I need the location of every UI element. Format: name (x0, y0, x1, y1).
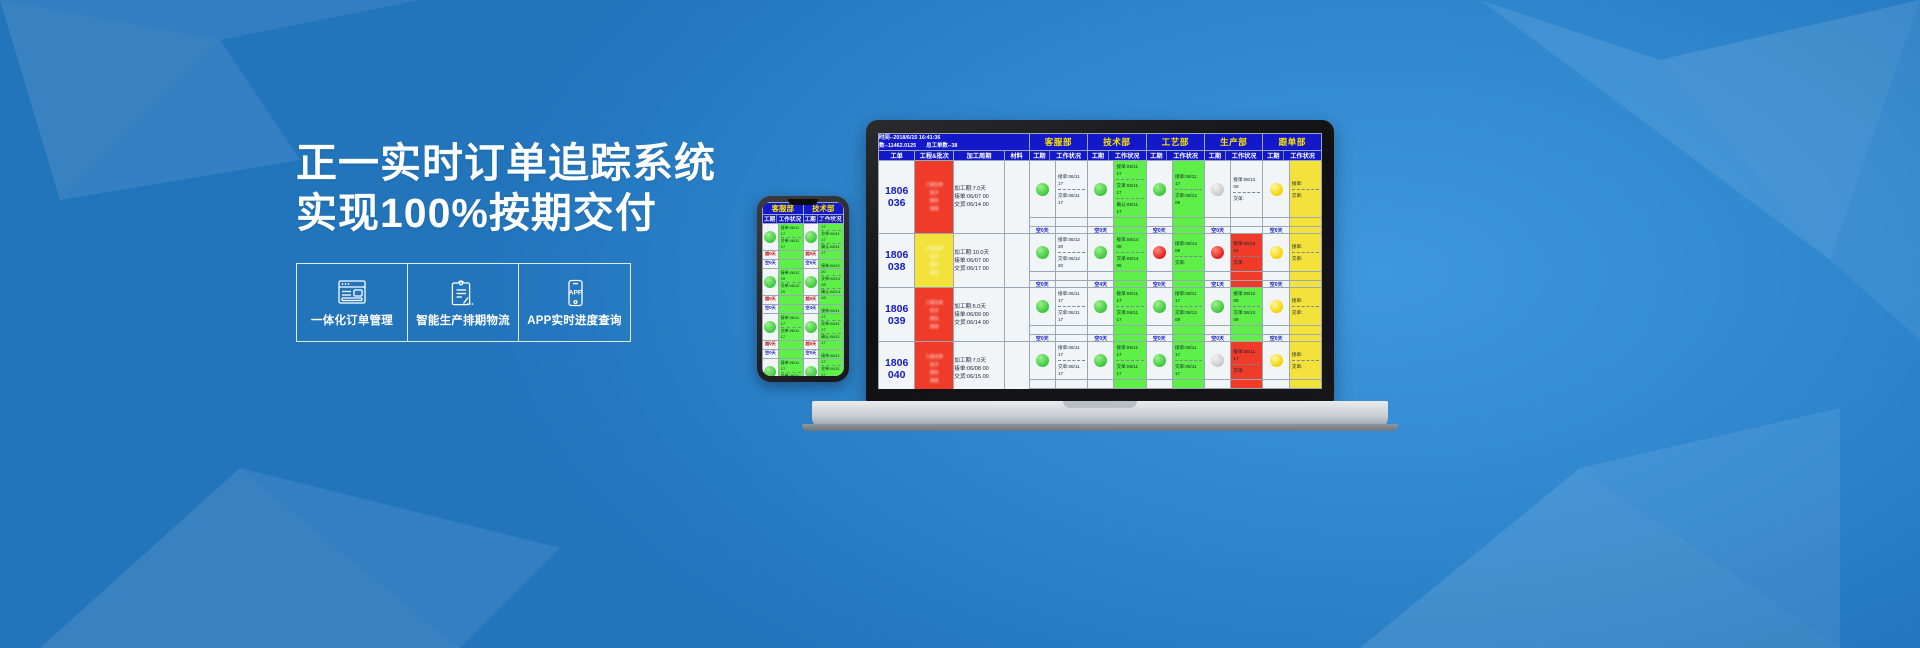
work-status-dates: 接单:06/11 17交单: (1231, 342, 1262, 379)
feature-list: 一体化订单管理 智能生产排期物流 (296, 263, 631, 342)
process-line: 接单:06/08 00 (954, 365, 1004, 373)
phone-status-dot-green (764, 366, 776, 376)
status-dot-green (1094, 300, 1107, 313)
phone-table-row[interactable]: 接单:06/11 17交单:06/11 17超0天空0天接单:06/11 17交… (763, 314, 844, 359)
date-line: 接单:06/11 17 (1116, 344, 1143, 358)
table-row[interactable]: 1806038工程名称批次颜色规格加工期:10.0天接单:06/07 00交货:… (879, 234, 1322, 272)
phone-date-line: 接单:06/11 17 (821, 353, 841, 365)
cell-dept-metrics: 超0天空0天 (1204, 326, 1262, 342)
cell-dept-status[interactable]: 接单:06/11 17交单:06/12 09 (1146, 161, 1204, 218)
phone-metric-overdue: 超0天 (763, 341, 779, 349)
phone-metric-idle: 空0天 (763, 350, 779, 358)
duration-indicator (1205, 288, 1231, 325)
column-header-status: 工作状况 (1050, 151, 1087, 160)
cell-dept-metrics: 超3.7天空0天 (1263, 218, 1322, 234)
cell-project-batch[interactable]: 工程名称批次颜色规格 (915, 234, 954, 288)
column-header-status: 工作状况 (1167, 151, 1204, 160)
cell-dept-status[interactable]: 接单:交单: (1263, 288, 1322, 326)
metric-overdue: 超0天 (1030, 380, 1056, 388)
cell-dept-status[interactable]: 接单:06/15 16交单: (1204, 234, 1262, 272)
cell-dept-metrics: 超0天空4天 (1088, 272, 1146, 288)
duration-indicator (1030, 234, 1056, 271)
cell-dept-metrics: 超0天空0天 (1146, 218, 1204, 234)
status-dot-grey (1211, 354, 1224, 367)
phone-metric-idle: 空0天 (763, 305, 779, 313)
cell-dept-status[interactable]: 接单:交单: (1263, 234, 1322, 272)
cell-dept-status[interactable]: 接单:06/11 17交单:06/11 17 (1088, 288, 1146, 326)
phone-metric-overdue: 超0天 (804, 296, 820, 304)
metric-idle-slot2 (1173, 335, 1204, 342)
work-status-dates: 接单:06/11 17交单:06/11 17 (1114, 288, 1145, 325)
metric-idle: 空0天 (1263, 281, 1289, 288)
laptop-mockup: 时间--2018/6/15 16:41:36数--11462.0125总工单数-… (866, 120, 1334, 426)
process-line: 接单:06/07 00 (954, 257, 1004, 265)
feature-label: APP实时进度查询 (527, 312, 621, 328)
table-header-row-columns: 工单工程&批次加工周期材料工期工作状况工期工作状况工期工作状况工期工作状况工期工… (879, 151, 1322, 161)
duration-indicator (1263, 234, 1289, 271)
phone-cell-dept-status[interactable]: 接单:06/11 17交单:06/11 17确认:06/11 17超0天空0天 (803, 314, 844, 359)
table-row[interactable]: 1806036工程名称批次颜色规格加工期:7.0天接单:06/07 00交货:0… (879, 161, 1322, 218)
column-header-group[interactable]: 工期工作状况 (1263, 151, 1322, 161)
cell-processing-period: 加工期:10.0天接单:06/07 00交货:06/17 00 (954, 234, 1005, 288)
phone-work-status-dates: 接单:06/11 17交单:06/11 17确认:06/11 17 (819, 314, 843, 340)
phone-metric-slot (819, 341, 843, 349)
phone-work-status-dates: 接单:06/11 17交单:06/11 17 (779, 224, 803, 250)
date-line: 交单:06/12 09 (1175, 309, 1202, 323)
phone-work-status-dates: 接单:06/11 17交单:06/11 17确认:06/11 17 (819, 359, 843, 376)
date-line: 接单:06/11 17 (1058, 344, 1085, 358)
phone-date-line: 接单:06/11 17 (821, 218, 841, 230)
metric-overdue: 超0天 (1263, 272, 1289, 280)
cell-dept-status[interactable]: 接单:06/11 17交单:06/11 17确认:06/11 17 (1088, 161, 1146, 218)
duration-indicator (1147, 288, 1173, 325)
phone-cell-dept-status[interactable]: 接单:06/11 17交单:06/11 17确认:06/11 17超0天空0天 (803, 224, 844, 269)
metric-idle: 空4天 (1088, 281, 1114, 288)
status-dot-grey (1211, 183, 1224, 196)
cell-dept-metrics: 超0天空0天 (1088, 326, 1146, 342)
clipboard-checklist-icon (447, 278, 479, 308)
phone-date-line: 交单:06/11 17 (781, 238, 801, 250)
phone-date-line: 交单:06/11 17 (781, 328, 801, 340)
work-status-dates: 接单:06/12 09交单:06/12 09 (1231, 288, 1262, 325)
phone-cell-dept-status[interactable]: 接单:06/12 20交单:06/14 08确认:06/14 08超0天空4天 (803, 269, 844, 314)
status-dot-green (1094, 183, 1107, 196)
cell-project-batch[interactable]: 工程名称批次颜色规格 (915, 161, 954, 234)
work-status-dates: 接单:06/11 17交单:06/11 17 (1056, 342, 1087, 379)
metric-idle-slot (1173, 272, 1204, 280)
headline-block: 正一实时订单追踪系统 实现100%按期交付 (296, 138, 716, 238)
headline-line-1: 正一实时订单追踪系统 (296, 138, 716, 188)
work-status-dates: 接单:06/11 17交单:06/11 17 (1114, 342, 1145, 379)
order-tracking-table: 时间--2018/6/15 16:41:36数--11462.0125总工单数-… (878, 133, 1322, 389)
phone-date-line: 交单:06/11 17 (821, 231, 841, 243)
work-status-dates: 接单:06/11 17交单:06/11 17 (1056, 288, 1087, 325)
column-header-group[interactable]: 工期工作状况 (1088, 151, 1146, 161)
metric-idle-slot (1290, 380, 1321, 388)
metric-idle-slot (1231, 218, 1262, 226)
date-line: 接单:06/11 17 (1116, 163, 1143, 177)
metric-idle-slot2 (1173, 281, 1204, 288)
process-line: 加工期:10.0天 (954, 249, 1004, 257)
phone-duration-indicator (763, 224, 779, 250)
date-line: 接单: (1292, 243, 1319, 250)
cell-dept-status[interactable]: 接单:06/12 09交单: (1204, 161, 1262, 218)
phone-duration-indicator (804, 224, 820, 250)
date-line: 交单:06/12 09 (1233, 309, 1260, 323)
cell-dept-metrics: 超0天空0天 (1088, 218, 1146, 234)
duration-indicator (1205, 161, 1231, 217)
work-status-dates: 接单:交单: (1290, 161, 1321, 217)
date-line: 交单: (1292, 255, 1319, 262)
date-line: 交单:06/11 17 (1058, 363, 1085, 377)
phone-column-header-status: 工作状况 (777, 215, 802, 223)
status-dot-yellow (1270, 183, 1283, 196)
department-header: 客服部 (1029, 134, 1087, 151)
status-dot-green (1211, 300, 1224, 313)
date-line: 接单: (1292, 351, 1319, 358)
date-line: 交单: (1233, 195, 1260, 202)
duration-indicator (1088, 234, 1114, 271)
phone-date-line: 交单:06/14 08 (821, 276, 841, 288)
process-line: 交货:06/17 00 (954, 265, 1004, 273)
phone-date-line: 接单:06/12 20 (781, 270, 801, 282)
metric-idle: 空3天 (1147, 389, 1173, 390)
date-line: 交单: (1233, 367, 1260, 374)
metric-idle-slot (1114, 218, 1145, 226)
date-line: 交单: (1292, 309, 1319, 316)
cell-dept-status[interactable]: 接单:06/14 08交单:06/14 08 (1088, 234, 1146, 272)
polygon-decor-bottom-right (1240, 408, 1840, 648)
duration-indicator (1030, 342, 1056, 379)
metric-overdue: 超0天 (1030, 218, 1056, 226)
date-line: 交单:06/12 20 (1058, 255, 1085, 269)
process-line: 加工期:7.0天 (954, 185, 1004, 193)
work-status-dates: 接单:交单: (1290, 342, 1321, 379)
work-status-dates: 接单:06/11 17交单:06/11 17 (1173, 342, 1204, 379)
metric-overdue: 超0天 (1147, 218, 1173, 226)
cell-dept-metrics: 超0天空0天 (1029, 326, 1087, 342)
cell-dept-metrics: 超0天空4天 (1088, 380, 1146, 390)
status-dot-green (1036, 246, 1049, 259)
status-dot-green (1094, 354, 1107, 367)
phone-status-dot-green (764, 321, 776, 333)
cell-dept-status[interactable]: 接单:06/11 17交单:06/11 17 (1088, 342, 1146, 380)
cell-dept-status[interactable]: 接单:06/11 17交单:06/12 09 (1146, 288, 1204, 326)
phone-cell-dept-status[interactable]: 接单:06/12 20交单:06/12 20超0天空0天 (763, 269, 804, 314)
column-header[interactable]: 加工周期 (954, 151, 1005, 161)
phone-table-row[interactable]: 接单:06/12 20交单:06/12 20超0天空0天接单:06/12 20交… (763, 269, 844, 314)
phone-metric-slot (779, 251, 803, 259)
feature-item-production-scheduling[interactable]: 智能生产排期物流 (408, 264, 519, 341)
phone-metric-slot (819, 251, 843, 259)
cell-dept-status[interactable]: 接单:06/11 17交单:06/11 17 (1029, 161, 1087, 218)
work-status-dates: 接单:06/11 17交单:06/11 17 (1056, 161, 1087, 217)
cell-dept-status[interactable]: 接单:06/12 09交单:06/12 09 (1204, 288, 1262, 326)
metric-idle-slot2 (1173, 389, 1204, 390)
metric-idle: 空0天 (1147, 335, 1173, 342)
metric-idle: 空4天 (1088, 389, 1114, 390)
phone-work-status-dates: 接单:06/12 20交单:06/14 08确认:06/14 08 (819, 269, 843, 295)
phone-date-line: 交单:06/12 20 (781, 283, 801, 295)
cell-dept-status[interactable]: 接单:06/11 17交单:06/11 17 (1029, 342, 1087, 380)
metric-overdue: 超0天 (1088, 326, 1114, 334)
metric-overdue: 超0天 (1088, 272, 1114, 280)
metric-overdue: 超0天 (1147, 380, 1173, 388)
date-line: 交单: (1175, 259, 1202, 266)
cell-project-batch[interactable]: 工程名称批次颜色规格 (915, 288, 954, 342)
metric-idle-slot2 (1056, 335, 1087, 342)
duration-indicator (1088, 161, 1114, 217)
date-line: 交单:06/11 17 (1058, 309, 1085, 323)
cell-material[interactable] (1004, 234, 1029, 288)
process-line: 接单:06/09 00 (954, 311, 1004, 319)
department-header: 工艺部 (1146, 134, 1204, 151)
date-line: 接单: (1292, 297, 1319, 304)
cell-material[interactable] (1004, 288, 1029, 342)
duration-indicator (1263, 161, 1289, 217)
column-header[interactable]: 工单 (879, 151, 915, 161)
metric-idle: 空0天 (1030, 335, 1056, 342)
cell-dept-status[interactable]: 接单:06/14 08交单: (1146, 234, 1204, 272)
column-header-status: 工作状况 (1284, 151, 1321, 160)
cell-order-no[interactable]: 1806039 (879, 288, 915, 342)
phone-date-line: 接单:06/12 20 (821, 263, 841, 275)
metric-idle-slot2 (1114, 335, 1145, 342)
column-header-group[interactable]: 工期工作状况 (1029, 151, 1087, 161)
phone-column-header-group[interactable]: 工期工作状况 (763, 215, 804, 224)
cell-dept-status[interactable]: 接单:交单: (1263, 342, 1322, 380)
cell-dept-status[interactable]: 接单:06/11 17交单:06/11 17 (1029, 288, 1087, 326)
work-status-dates: 接单:交单: (1290, 234, 1321, 271)
metric-idle: 空0天 (1263, 335, 1289, 342)
metric-overdue: 超0天 (1147, 272, 1173, 280)
metric-idle-slot2 (1231, 335, 1262, 342)
date-line: 接单:06/12 20 (1058, 236, 1085, 250)
phone-metric-idle: 空0天 (804, 260, 820, 268)
process-line: 接单:06/07 00 (954, 193, 1004, 201)
duration-indicator (1088, 288, 1114, 325)
phone-cell-dept-status[interactable]: 接单:06/11 17交单:06/11 17确认:06/11 17超0天空4天 (803, 359, 844, 377)
phone-table-row[interactable]: 接单:06/11 17交单:06/11 17超0天空0天接单:06/11 17交… (763, 224, 844, 269)
dashboard-window-icon (336, 278, 368, 308)
metric-idle-slot2 (1231, 281, 1262, 288)
phone-duration-indicator (763, 359, 779, 376)
phone-work-status-dates: 接单:06/12 20交单:06/12 20 (779, 269, 803, 295)
work-status-dates: 接单:06/11 17交单:06/12 09 (1173, 288, 1204, 325)
metric-overdue: 超0.7天 (1263, 380, 1289, 388)
metric-idle-slot (1231, 272, 1262, 280)
date-line: 交单:06/11 17 (1175, 363, 1202, 377)
column-header-group[interactable]: 工期工作状况 (1146, 151, 1204, 161)
phone-cell-dept-status[interactable]: 接单:06/11 17交单:06/11 17超0天空1天 (763, 359, 804, 377)
feature-item-app-progress-query[interactable]: APP APP实时进度查询 (519, 264, 630, 341)
date-line: 交单:06/11 17 (1058, 192, 1085, 206)
cell-dept-metrics: 超0天空0天 (1029, 218, 1087, 234)
cell-dept-status[interactable]: 接单:交单: (1263, 161, 1322, 218)
phone-date-line: 交单:06/11 17 (821, 321, 841, 333)
date-line: 接单:06/14 08 (1175, 240, 1202, 254)
cell-dept-status[interactable]: 接单:06/11 17交单:06/11 17 (1146, 342, 1204, 380)
status-dot-green (1036, 354, 1049, 367)
promo-banner: 正一实时订单追踪系统 实现100%按期交付 一体化订单管理 (0, 0, 1920, 648)
duration-indicator (1205, 342, 1231, 379)
duration-indicator (1030, 161, 1056, 217)
cell-dept-metrics: 超1.7天空1天 (1204, 272, 1262, 288)
cell-dept-metrics: 超0天空0天 (1263, 326, 1322, 342)
cell-dept-status[interactable]: 接单:06/11 17交单: (1204, 342, 1262, 380)
column-header-duration: 工期 (1205, 151, 1226, 160)
phone-duration-indicator (804, 269, 820, 295)
phone-notch (788, 199, 818, 205)
work-status-dates: 接单:交单: (1290, 288, 1321, 325)
date-line: 接单:06/11 17 (1233, 348, 1260, 362)
phone-duration-indicator (804, 314, 820, 340)
metric-idle-slot2 (1056, 389, 1087, 390)
phone-date-line: 接单:06/11 17 (821, 308, 841, 320)
metric-idle-slot (1231, 380, 1262, 388)
date-line: 交单: (1292, 192, 1319, 199)
duration-indicator (1263, 288, 1289, 325)
metric-overdue: 超0天 (1088, 380, 1114, 388)
date-line: 确认:06/11 17 (1116, 201, 1143, 215)
metric-idle-slot (1056, 326, 1087, 334)
metric-idle-slot (1173, 326, 1204, 334)
metric-idle: 空0天 (1088, 227, 1114, 234)
duration-indicator (1147, 234, 1173, 271)
phone-metric-overdue: 超0天 (763, 296, 779, 304)
metric-idle-slot (1056, 380, 1087, 388)
phone-date-line: 接单:06/11 17 (781, 360, 801, 372)
metric-idle-slot2 (1231, 227, 1262, 234)
phone-cell-dept-status[interactable]: 接单:06/11 17交单:06/11 17超0天空0天 (763, 224, 804, 269)
metric-idle-slot2 (1114, 389, 1145, 390)
cell-order-no[interactable]: 1806040 (879, 342, 915, 390)
project-batch-text: 工程名称批次颜色规格 (915, 342, 953, 389)
phone-work-status-dates: 接单:06/11 17交单:06/11 17 (779, 314, 803, 340)
metric-idle: 空1天 (1263, 389, 1289, 390)
metric-idle-slot (1114, 380, 1145, 388)
metric-idle-slot (1056, 272, 1087, 280)
table-row[interactable]: 1806039工程名称批次颜色规格加工期:5.0天接单:06/09 00交货:0… (879, 288, 1322, 326)
cell-material[interactable] (1004, 342, 1029, 390)
laptop-lid: 时间--2018/6/15 16:41:36数--11462.0125总工单数-… (866, 120, 1334, 403)
metric-idle-slot2 (1114, 227, 1145, 234)
cell-processing-period: 加工期:5.0天接单:06/09 00交货:06/14 00 (954, 288, 1005, 342)
process-line: 交货:06/14 00 (954, 319, 1004, 327)
feature-item-order-management[interactable]: 一体化订单管理 (297, 264, 408, 341)
phone-metric-slot2 (779, 350, 803, 358)
duration-indicator (1263, 342, 1289, 379)
phone-metric-idle: 空0天 (763, 260, 779, 268)
screen-meta: 时间--2018/6/15 16:41:36数--11462.0125总工单数-… (879, 134, 1030, 151)
metric-idle-slot2 (1290, 335, 1321, 342)
cell-project-batch[interactable]: 工程名称批次颜色规格 (915, 342, 954, 390)
column-header[interactable]: 工程&批次 (915, 151, 954, 161)
status-dot-green (1094, 246, 1107, 259)
phone-date-line: 交单:06/11 17 (781, 373, 801, 377)
phone-metric-slot (779, 296, 803, 304)
phone-metric-slot2 (779, 260, 803, 268)
polygon-decor-bottom-left (40, 388, 560, 648)
phone-status-dot-green (764, 231, 776, 243)
phone-status-dot-green (805, 231, 817, 243)
meta-total: 总工单数--38 (926, 142, 957, 150)
date-line: 交单:06/12 09 (1175, 192, 1202, 206)
work-status-dates: 接单:06/12 09交单: (1231, 161, 1262, 217)
work-status-dates: 接单:06/11 17交单:06/11 17确认:06/11 17 (1114, 161, 1145, 217)
metric-idle-slot (1231, 326, 1262, 334)
date-line: 接单:06/11 17 (1116, 290, 1143, 304)
cell-dept-metrics: 超1.7天空1天 (1204, 380, 1262, 390)
column-header-group[interactable]: 工期工作状况 (1204, 151, 1262, 161)
metric-overdue: 超3.7天 (1263, 218, 1289, 226)
metric-idle: 空0天 (1205, 227, 1231, 234)
metric-idle-slot2 (1114, 281, 1145, 288)
cell-material[interactable] (1004, 161, 1029, 234)
date-line: 接单:06/12 09 (1233, 290, 1260, 304)
headline-line-2: 实现100%按期交付 (296, 188, 716, 238)
meta-time: 时间--2018/6/15 16:41:36 (879, 134, 1029, 142)
phone-work-status-dates: 接单:06/11 17交单:06/11 17 (779, 359, 803, 376)
table-row[interactable]: 1806040工程名称批次颜色规格加工期:7.0天接单:06/08 00交货:0… (879, 342, 1322, 380)
polygon-decor-right (1360, 0, 1920, 340)
cell-order-no[interactable]: 1806036 (879, 161, 915, 234)
svg-text:APP: APP (568, 289, 582, 296)
phone-body: 客服部技术部工期工作状况工期工作状况接单:06/11 17交单:06/11 17… (757, 196, 849, 382)
metric-idle-slot (1290, 272, 1321, 280)
metric-idle-slot2 (1290, 389, 1321, 390)
date-line: 接单: (1292, 180, 1319, 187)
metric-idle-slot2 (1173, 227, 1204, 234)
status-dot-green (1036, 300, 1049, 313)
cell-order-no[interactable]: 1806038 (879, 234, 915, 288)
cell-dept-status[interactable]: 接单:06/12 20交单:06/12 20 (1029, 234, 1087, 272)
work-status-dates: 接单:06/14 08交单:06/14 08 (1114, 234, 1145, 271)
metric-overdue: 超0天 (1088, 218, 1114, 226)
phone-cell-dept-status[interactable]: 接单:06/11 17交单:06/11 17超0天空0天 (763, 314, 804, 359)
laptop-screen[interactable]: 时间--2018/6/15 16:41:36数--11462.0125总工单数-… (878, 133, 1322, 389)
phone-status-dot-green (805, 321, 817, 333)
duration-indicator (1147, 161, 1173, 217)
date-line: 接单:06/11 17 (1058, 290, 1085, 304)
date-line: 接单:06/11 17 (1175, 290, 1202, 304)
department-header: 技术部 (1088, 134, 1146, 151)
phone-date-line: 接单:06/11 17 (781, 315, 801, 327)
phone-table-row[interactable]: 接单:06/11 17交单:06/11 17超0天空1天接单:06/11 17交… (763, 359, 844, 377)
cell-dept-metrics: 超0天空0天 (1146, 272, 1204, 288)
metric-idle: 空0天 (1030, 281, 1056, 288)
duration-indicator (1088, 342, 1114, 379)
duration-indicator (1147, 342, 1173, 379)
metric-idle-slot2 (1056, 227, 1087, 234)
phone-work-status-dates: 接单:06/11 17交单:06/11 17确认:06/11 17 (819, 224, 843, 250)
metric-overdue: 超0天 (1263, 326, 1289, 334)
metric-idle: 空0天 (1205, 335, 1231, 342)
table-header-row-departments: 时间--2018/6/15 16:41:36数--11462.0125总工单数-… (879, 134, 1322, 151)
column-header[interactable]: 材料 (1004, 151, 1029, 161)
date-line: 接单:06/12 09 (1233, 176, 1260, 190)
work-status-dates: 接单:06/15 16交单: (1231, 234, 1262, 271)
metric-idle-slot (1114, 272, 1145, 280)
metric-idle: 空1天 (1030, 389, 1056, 390)
date-line: 交单:06/14 08 (1116, 255, 1143, 269)
cell-dept-metrics: 超0天空3天 (1146, 380, 1204, 390)
metric-overdue: 超0天 (1030, 326, 1056, 334)
mobile-app-icon: APP (559, 278, 591, 308)
phone-screen[interactable]: 客服部技术部工期工作状况工期工作状况接单:06/11 17交单:06/11 17… (762, 202, 844, 376)
status-dot-yellow (1270, 354, 1283, 367)
metric-idle: 空1天 (1205, 281, 1231, 288)
